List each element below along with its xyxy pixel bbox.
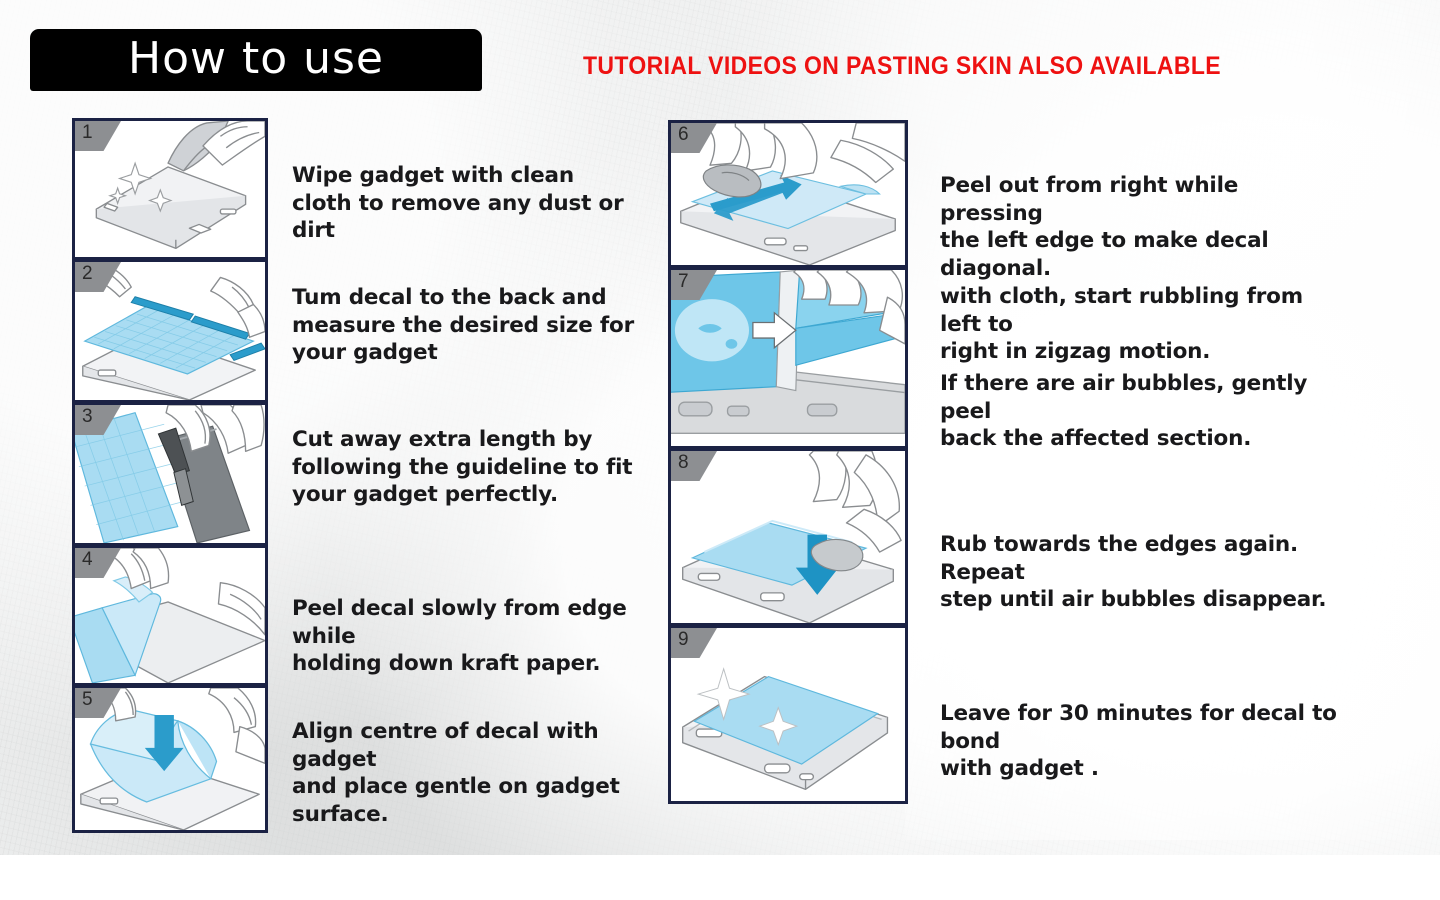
step-caption-8: Rub towards the edges again. Repeat step… [940,531,1340,614]
step-caption-1: Wipe gadget with clean cloth to remove a… [292,162,642,245]
bottom-white-margin [0,855,1440,900]
step-caption-6: Peel out from right while pressing the l… [940,172,1340,366]
step-panel-4: 4 [72,546,268,686]
tutorial-videos-note: TUTORIAL VIDEOS ON PASTING SKIN ALSO AVA… [583,52,1221,81]
step-number-label: 4 [82,550,93,569]
steps-column-left: 1 [72,118,268,833]
step-number-label: 6 [678,125,689,144]
step-caption-2: Tum decal to the back and measure the de… [292,284,642,367]
step-panel-9: 9 [668,626,908,804]
illustration-rub-zigzag [671,123,905,265]
illustration-air-bubble-peel [671,270,905,446]
step-number-label: 2 [82,264,93,283]
step-caption-4: Peel decal slowly from edge while holdin… [292,595,642,678]
step-panel-6: 6 [668,120,908,268]
step-number-label: 1 [82,123,93,142]
step-panel-1: 1 [72,118,268,260]
step-panel-3: 3 [72,403,268,546]
step-number-label: 8 [678,453,689,472]
step-number-label: 3 [82,407,93,426]
step-number-label: 5 [82,690,93,709]
illustration-finished-gadget [671,628,905,801]
steps-column-right: 6 [668,120,908,804]
illustration-rub-edges-down-arrow [671,451,905,623]
step-number-label: 9 [678,630,689,649]
step-panel-8: 8 [668,449,908,626]
step-caption-7: If there are air bubbles, gently peel ba… [940,370,1340,453]
how-to-use-infographic: How to use TUTORIAL VIDEOS ON PASTING SK… [0,0,1440,900]
step-caption-3: Cut away extra length by following the g… [292,426,642,509]
step-caption-9: Leave for 30 minutes for decal to bond w… [940,700,1340,783]
step-panel-2: 2 [72,260,268,403]
step-panel-7: 7 [668,268,908,449]
step-number-label: 7 [678,272,689,291]
step-caption-5: Align centre of decal with gadget and pl… [292,718,642,829]
page-title: How to use [128,37,384,84]
step-panel-5: 5 [72,686,268,833]
header-banner: How to use [30,29,482,91]
